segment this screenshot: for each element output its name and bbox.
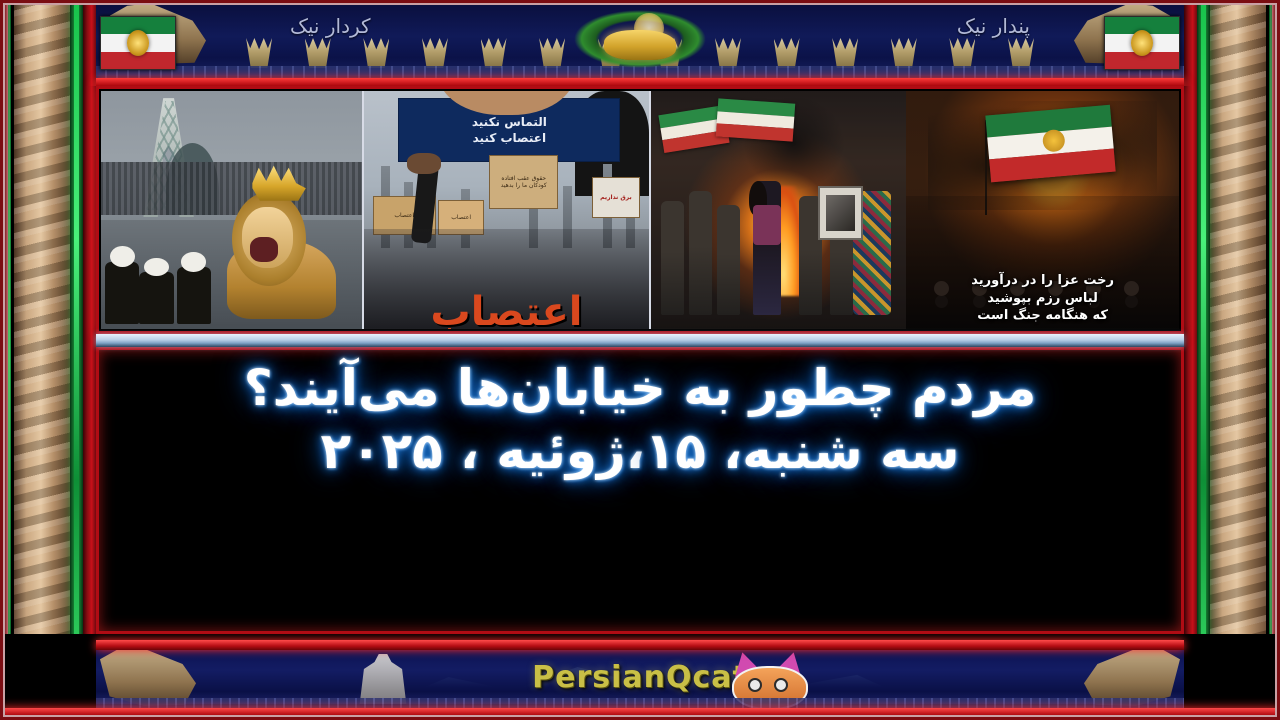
thumb-caption: رخت عزا را در درآورید لباس رزم بپوشید که… — [906, 272, 1179, 325]
left-ornate-border — [0, 0, 96, 720]
column-capital-icon — [715, 38, 741, 68]
column-capital-icon — [1008, 38, 1034, 68]
cleric-figure — [139, 272, 173, 324]
banner-motto-right: پندار نیک — [957, 14, 1030, 38]
caption-line: لباس رزم بپوشید — [912, 290, 1173, 308]
column-capital-icon — [246, 38, 272, 68]
fist-icon — [407, 153, 441, 174]
dancing-woman-figure — [753, 181, 781, 314]
strike-word: اعتصاب — [364, 294, 649, 329]
column-capital-icon — [832, 38, 858, 68]
thumb-crowned-lion-azadi[interactable] — [101, 91, 362, 329]
thumb-flag-crowd-fire[interactable]: رخت عزا را در درآورید لباس رزم بپوشید که… — [906, 91, 1179, 329]
protest-sign: برق نداریم — [592, 177, 641, 219]
carved-relief — [14, 0, 70, 720]
column-capital-icon — [949, 38, 975, 68]
caption-line: که هنگامه جنگ است — [912, 307, 1173, 325]
top-banner: پندار نیک کردار نیک — [0, 0, 1280, 86]
column-capital-icon — [363, 38, 389, 68]
lion-icon — [604, 30, 676, 60]
iran-lion-sun-flag-icon — [985, 105, 1116, 182]
neon-line-icon — [74, 0, 79, 720]
crowned-lion-icon — [224, 167, 351, 319]
banner-red-rail — [96, 78, 1184, 86]
banner-line: التماس نکنید — [472, 115, 547, 129]
neon-line-icon — [8, 0, 11, 720]
page-date: سه شنبه، ۱۵،ژوئیه ، ۲۰۲۵ — [125, 421, 1155, 482]
iran-flag-icon — [716, 98, 795, 141]
caption-line: رخت عزا را در درآورید — [912, 272, 1173, 290]
bottom-red-rail — [0, 708, 1280, 720]
bottom-branding-bar: PersianQcat — [0, 634, 1280, 720]
column-capital-icon — [305, 38, 331, 68]
page-title: مردم چطور به خیابان‌ها می‌آیند؟ — [125, 358, 1155, 419]
column-capital-icon — [539, 38, 565, 68]
banner-motto-left: کردار نیک — [290, 14, 371, 38]
cleric-figure — [177, 267, 211, 324]
banner-line: اعتصاب کنید — [473, 131, 546, 145]
column-capital-icon — [774, 38, 800, 68]
protest-sign: حقوق عقب افتاده کودکان ما را بدهید — [489, 155, 558, 209]
strip-separator — [96, 334, 1184, 347]
slide-stage: پندار نیک کردار نیک — [0, 0, 1280, 720]
lion-sun-seal-icon — [127, 30, 149, 56]
crown-icon — [252, 164, 305, 201]
portrait-placard — [818, 186, 863, 240]
bottom-red-rail — [96, 640, 1184, 650]
lion-sun-seal-icon — [1131, 30, 1153, 56]
column-capital-icon — [422, 38, 448, 68]
iran-flag-icon — [1104, 16, 1180, 70]
iran-flag-icon — [100, 16, 176, 70]
carved-relief — [1210, 0, 1266, 720]
title-panel: مردم چطور به خیابان‌ها می‌آیند؟ سه شنبه،… — [96, 347, 1184, 634]
thumb-strike-refinery[interactable]: التماس نکنید اعتصاب کنید حقوق عقب افتاده… — [362, 91, 649, 329]
neon-line-icon — [1269, 0, 1272, 720]
column-capital-icon — [891, 38, 917, 68]
neon-line-icon — [1201, 0, 1206, 720]
column-capital-icon — [481, 38, 507, 68]
right-ornate-border — [1184, 0, 1280, 720]
lion-and-sun-emblem-icon — [565, 6, 715, 72]
thumb-protest-bonfire-painting[interactable] — [649, 91, 906, 329]
cleric-figure — [105, 262, 139, 324]
thumbnail-strip: رخت عزا را در درآورید لباس رزم بپوشید که… — [96, 86, 1184, 334]
